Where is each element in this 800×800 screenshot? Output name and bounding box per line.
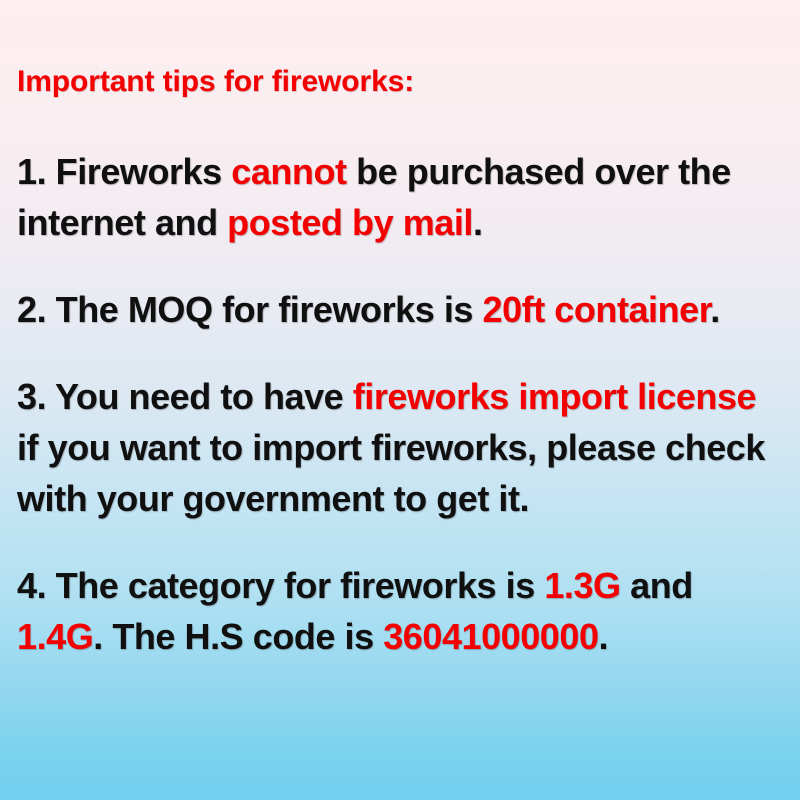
- tip-item-1: 1. Fireworks cannot be purchased over th…: [17, 146, 783, 248]
- tip-4-highlight-hs-code: 36041000000: [383, 616, 598, 657]
- tip-4-highlight-category-13g: 1.3G: [544, 565, 620, 606]
- tip-item-2: 2. The MOQ for fireworks is 20ft contain…: [17, 284, 783, 335]
- tip-2-lead: 2. The MOQ for fireworks is: [17, 289, 483, 330]
- fireworks-tips-poster: Important tips for fireworks: 1. Firewor…: [0, 0, 800, 800]
- tip-4-tail-2: .: [599, 616, 609, 657]
- page-title: Important tips for fireworks:: [17, 62, 783, 102]
- tip-1-highlight-cannot: cannot: [231, 151, 346, 192]
- tip-item-4: 4. The category for fireworks is 1.3G an…: [17, 560, 783, 662]
- tip-1-tail: .: [473, 202, 483, 243]
- tip-4-tail: . The H.S code is: [93, 616, 383, 657]
- tip-3-lead: 3. You need to have: [17, 376, 353, 417]
- tip-3-middle: if you want to import fireworks, please …: [17, 427, 765, 519]
- tip-1-lead: 1. Fireworks: [17, 151, 231, 192]
- tip-4-highlight-category-14g: 1.4G: [17, 616, 93, 657]
- poster-content: Important tips for fireworks: 1. Firewor…: [17, 62, 783, 662]
- tip-2-highlight-moq: 20ft container: [483, 289, 711, 330]
- tip-item-3: 3. You need to have fireworks import lic…: [17, 371, 783, 524]
- tip-1-highlight-posted-by-mail: posted by mail: [227, 202, 473, 243]
- tip-4-middle: and: [621, 565, 693, 606]
- tip-2-tail: .: [710, 289, 720, 330]
- tip-3-highlight-license: fireworks import license: [353, 376, 756, 417]
- tip-4-lead: 4. The category for fireworks is: [17, 565, 544, 606]
